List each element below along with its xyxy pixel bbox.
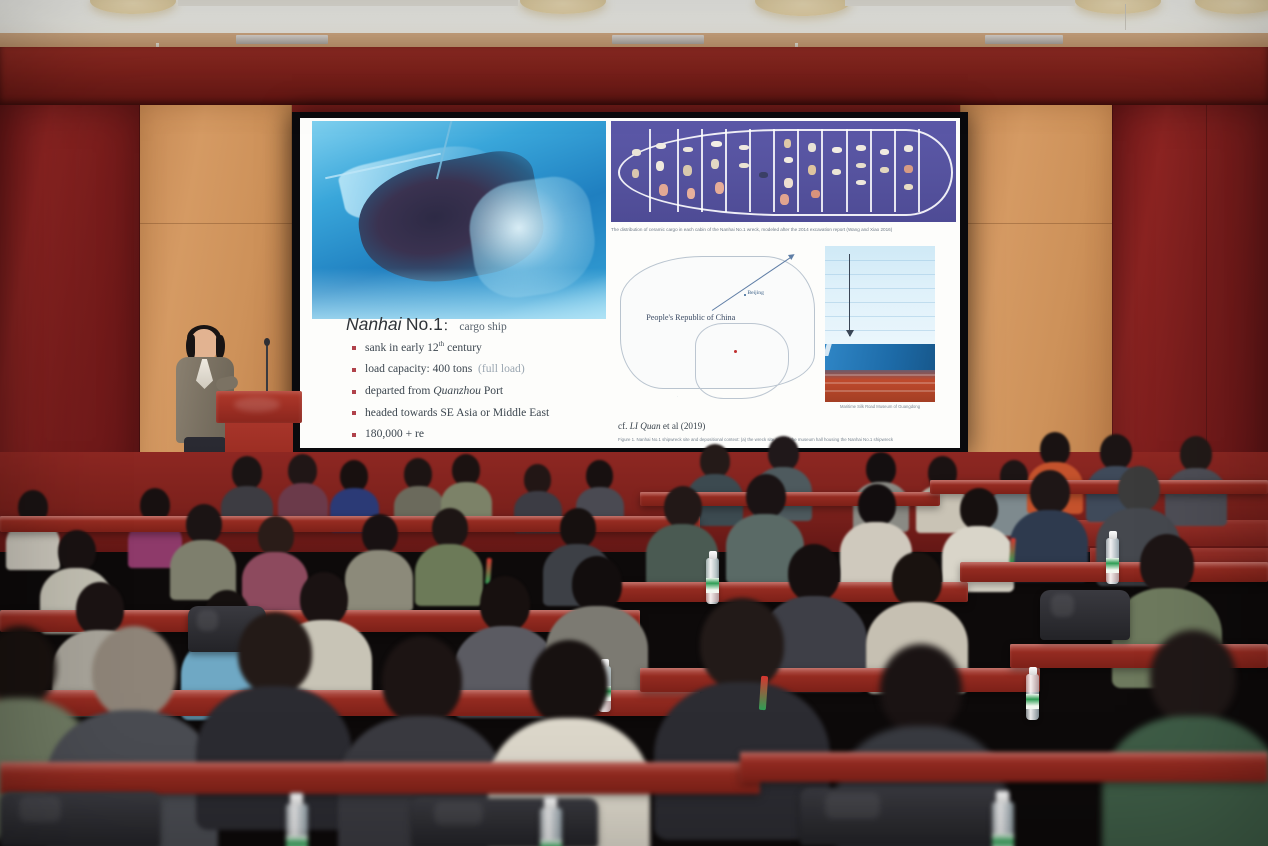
map-country-label: People's Republic of China	[646, 313, 735, 322]
ceiling-light-icon	[1075, 0, 1161, 14]
slide-title-colon: ：	[443, 319, 455, 333]
shipwreck-underwater-photo	[312, 121, 606, 319]
wall-top-rail	[0, 47, 1268, 105]
water-bottle	[1106, 538, 1119, 584]
cargo-diagram-caption: The distribution of ceramic cargo in eac…	[611, 226, 956, 233]
ceiling-light-icon	[90, 0, 176, 14]
museum-caption: Maritime Silk Road Museum of Guangdong	[825, 404, 935, 409]
desk-row	[740, 752, 1268, 782]
chair	[1040, 590, 1130, 640]
slide-title-italic: Nanhai	[346, 314, 401, 334]
ceiling-beam	[0, 33, 1268, 47]
ceiling-light-icon	[755, 0, 851, 16]
pointer-arrow-icon	[849, 254, 850, 336]
slide-title-rest: No.1	[406, 314, 443, 334]
wall-panel-tan	[960, 105, 1112, 485]
list-item: sank in early 12th century	[352, 340, 682, 354]
chair	[800, 788, 1010, 846]
lecture-hall-photo: The distribution of ceramic cargo in eac…	[0, 0, 1268, 846]
chair	[0, 792, 160, 846]
desk-row	[0, 762, 760, 794]
list-item: departed from Quanzhou Port	[352, 384, 682, 397]
slide-subtitle: cargo ship	[459, 321, 506, 333]
beam-fixture	[612, 35, 704, 44]
wall-panel-red	[1112, 105, 1268, 485]
presentation-slide: The distribution of ceramic cargo in eac…	[300, 118, 960, 448]
map-capital-label: Beijing	[747, 290, 763, 296]
beam-fixture	[236, 35, 328, 44]
microphone-icon	[266, 343, 268, 393]
water-bottle	[540, 808, 562, 846]
beam-fixture	[985, 35, 1063, 44]
water-bottle	[286, 804, 308, 846]
list-item: load capacity: 400 tons (full load)	[352, 362, 682, 375]
water-bottle	[992, 802, 1014, 846]
water-bottle	[1026, 674, 1039, 720]
back-wall: The distribution of ceramic cargo in eac…	[0, 47, 1268, 485]
slide-heading: Nanhai No.1： cargo ship	[346, 314, 507, 335]
ceiling-light-icon	[520, 0, 606, 14]
wall-panel-red	[0, 105, 140, 485]
ceiling-seam	[178, 0, 518, 6]
cargo-distribution-diagram	[611, 121, 956, 222]
list-item: headed towards SE Asia or Middle East	[352, 406, 682, 419]
museum-inset-figure: Maritime Silk Road Museum of Guangdong	[825, 246, 935, 416]
ceiling-wire	[1125, 4, 1126, 30]
projection-screen-frame: The distribution of ceramic cargo in eac…	[292, 112, 968, 454]
water-bottle	[706, 558, 719, 604]
chair	[412, 798, 598, 846]
ceiling-seam	[845, 0, 1075, 6]
ceiling	[0, 0, 1268, 33]
audience-area	[0, 430, 1268, 846]
ceiling-light-icon	[1195, 0, 1268, 14]
beijing-marker-icon	[744, 294, 746, 296]
